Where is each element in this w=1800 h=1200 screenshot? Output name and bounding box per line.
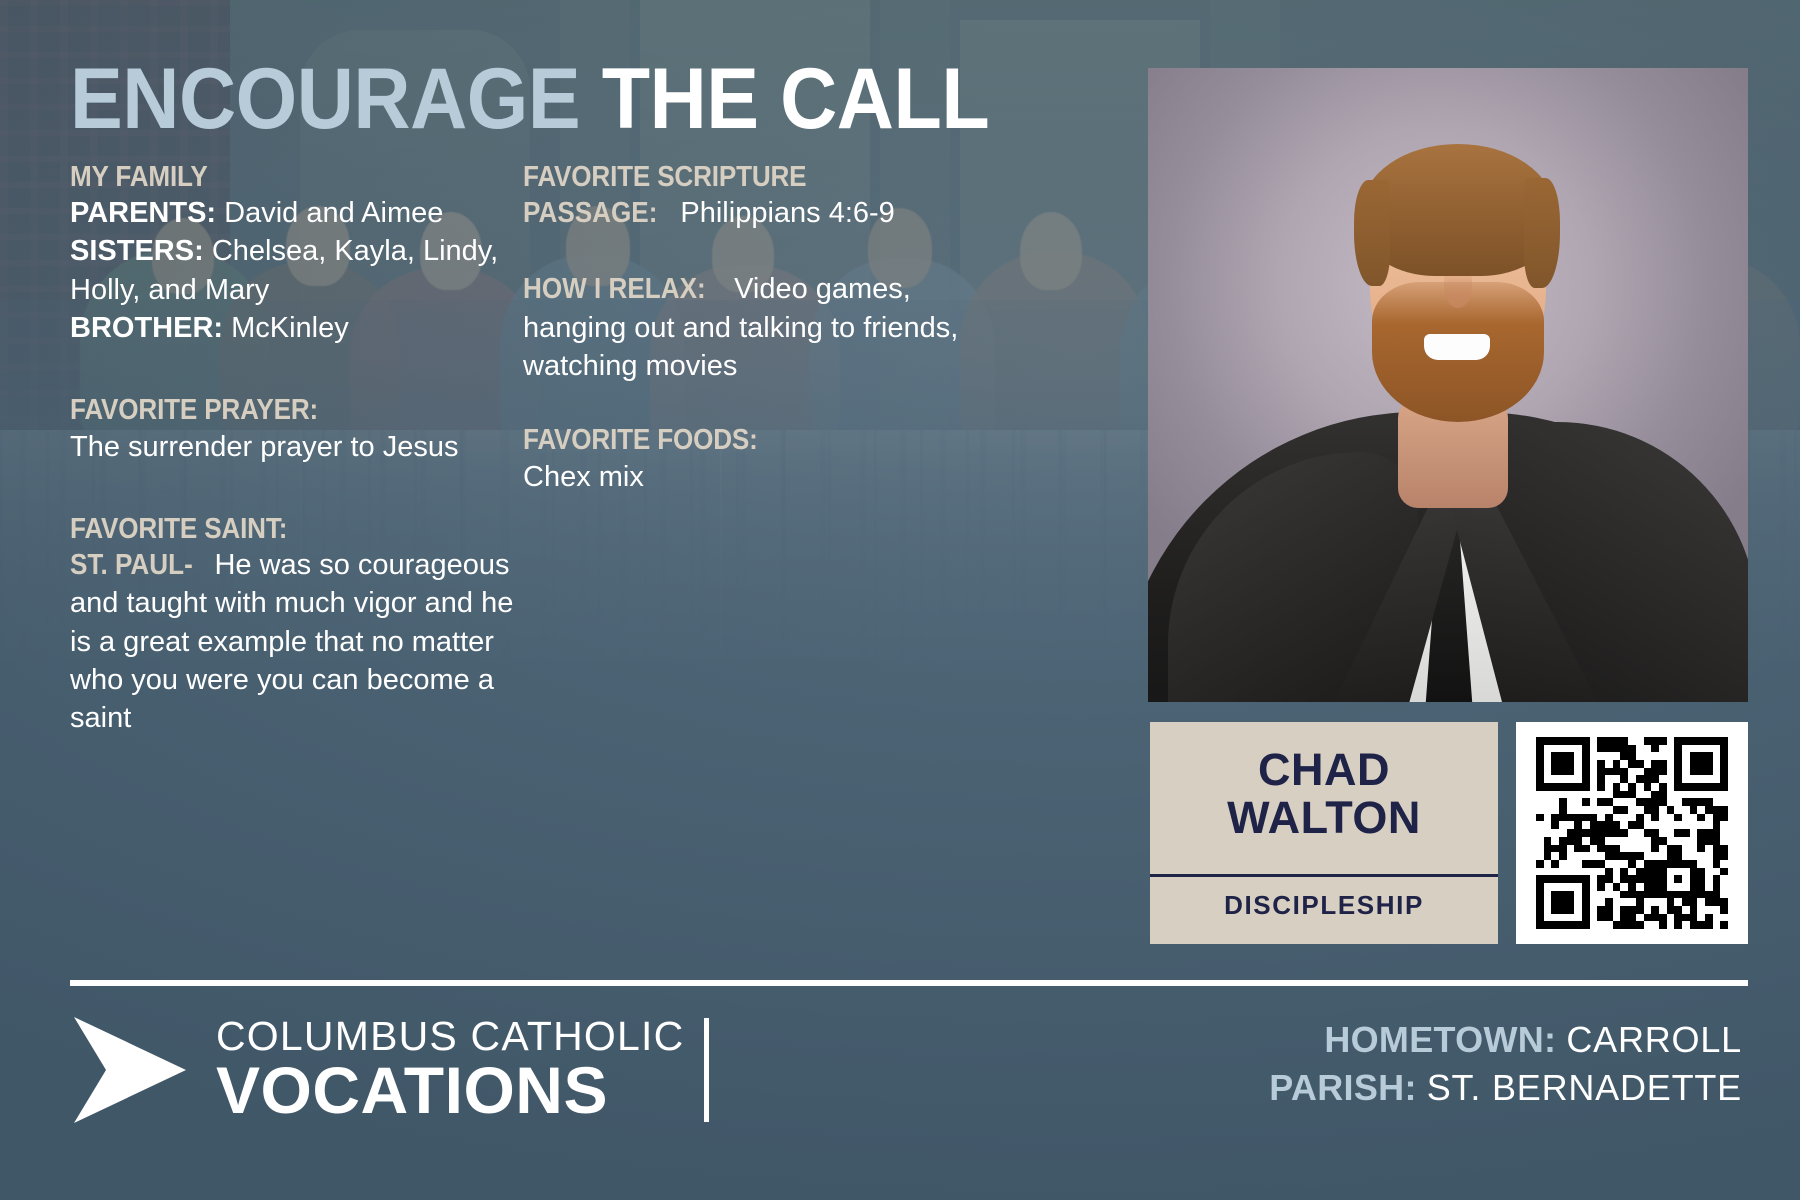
parents-value: David and Aimee — [224, 197, 443, 229]
favorite-saint-label: FAVORITE SAINT: — [70, 512, 475, 546]
portrait-hair-side-left — [1354, 180, 1390, 286]
family-brother-row: BROTHER: McKinley — [70, 309, 520, 347]
favorite-foods-value: Chex mix — [523, 458, 963, 496]
name-card-name: CHAD WALTON — [1150, 722, 1498, 841]
first-name: CHAD — [1150, 746, 1498, 794]
how-i-relax-row: HOW I RELAX: Video games, hanging out an… — [523, 270, 963, 385]
logo-line-vocations: VOCATIONS — [216, 1057, 684, 1124]
family-block: MY FAMILY PARENTS: David and Aimee SISTE… — [70, 160, 520, 347]
family-parents-row: PARENTS: David and Aimee — [70, 194, 520, 232]
right-column: FAVORITE SCRIPTURE PASSAGE: Philippians … — [523, 160, 963, 496]
name-card: CHAD WALTON DISCIPLESHIP — [1150, 722, 1498, 944]
brother-label: BROTHER: — [70, 312, 223, 344]
hometown-row: HOMETOWN: CARROLL — [1269, 1016, 1742, 1064]
passage-label: PASSAGE: — [523, 194, 657, 232]
qr-code[interactable] — [1516, 722, 1748, 944]
hometown-value: CARROLL — [1566, 1019, 1742, 1060]
footer-details: HOMETOWN: CARROLL PARISH: ST. BERNADETTE — [1269, 1016, 1742, 1112]
footer-divider — [70, 980, 1748, 986]
parish-row: PARISH: ST. BERNADETTE — [1269, 1064, 1742, 1112]
foods-block: FAVORITE FOODS: Chex mix — [523, 423, 963, 495]
spacer — [523, 385, 963, 423]
hometown-label: HOMETOWN: — [1324, 1019, 1556, 1060]
logo-wordmark: COLUMBUS CATHOLIC VOCATIONS — [216, 1016, 684, 1124]
favorite-prayer-label: FAVORITE PRAYER: — [70, 393, 475, 427]
last-name: WALTON — [1150, 794, 1498, 842]
parish-value: ST. BERNADETTE — [1427, 1067, 1742, 1108]
family-sisters-row: SISTERS: Chelsea, Kayla, Lindy, Holly, a… — [70, 232, 520, 309]
sisters-label: SISTERS: — [70, 235, 204, 267]
title-part-encourage: ENCOURAGE — [70, 51, 580, 147]
scripture-block: FAVORITE SCRIPTURE PASSAGE: Philippians … — [523, 160, 963, 232]
seminarian-portrait-photo — [1148, 68, 1748, 702]
prayer-block: FAVORITE PRAYER: The surrender prayer to… — [70, 393, 520, 465]
spacer — [70, 347, 520, 393]
passage-value: Philippians 4:6-9 — [680, 197, 894, 229]
saint-name: ST. PAUL- — [70, 546, 193, 584]
parish-label: PARISH: — [1269, 1067, 1416, 1108]
name-card-divider — [1150, 874, 1498, 877]
family-label: MY FAMILY — [70, 160, 475, 194]
favorite-foods-label: FAVORITE FOODS: — [523, 423, 919, 457]
left-column: MY FAMILY PARENTS: David and Aimee SISTE… — [70, 160, 520, 737]
parents-label: PARENTS: — [70, 197, 216, 229]
spacer — [70, 466, 520, 512]
saint-block: FAVORITE SAINT: ST. PAUL- He was so cour… — [70, 512, 520, 738]
vocations-poster: ENCOURAGE THE CALL MY FAMILY PARENTS: Da… — [0, 0, 1800, 1200]
brother-value: McKinley — [231, 312, 349, 344]
portrait-smile — [1424, 334, 1490, 360]
page-title: ENCOURAGE THE CALL — [70, 56, 989, 142]
logo-line-columbus-catholic: COLUMBUS CATHOLIC — [216, 1016, 684, 1057]
favorite-prayer-value: The surrender prayer to Jesus — [70, 428, 520, 466]
favorite-saint-text: ST. PAUL- He was so courageous and taugh… — [70, 546, 520, 737]
qr-code-grid — [1536, 737, 1728, 929]
relax-block: HOW I RELAX: Video games, hanging out an… — [523, 270, 963, 385]
arrow-chevron-icon — [70, 1014, 190, 1126]
columbus-catholic-vocations-logo: COLUMBUS CATHOLIC VOCATIONS — [70, 1010, 709, 1130]
logo-vertical-rule — [704, 1018, 709, 1122]
name-card-role: DISCIPLESHIP — [1150, 890, 1498, 921]
how-i-relax-label: HOW I RELAX: — [523, 270, 706, 308]
spacer — [523, 232, 963, 270]
portrait-hair-side-right — [1524, 178, 1560, 288]
title-part-the-call: THE CALL — [602, 51, 989, 147]
scripture-passage-row: PASSAGE: Philippians 4:6-9 — [523, 194, 963, 232]
favorite-scripture-label-line1: FAVORITE SCRIPTURE — [523, 160, 919, 194]
